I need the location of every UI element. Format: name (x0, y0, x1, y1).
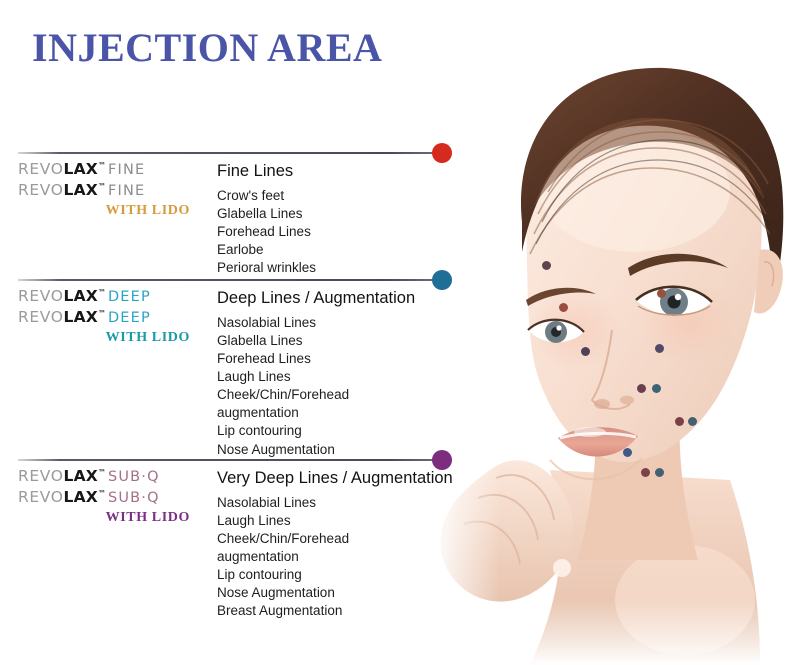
legend-dot-subq (432, 450, 452, 470)
indication-item: Cheek/Chin/Forehead (217, 386, 452, 404)
with-lido-label: WITH LIDO (18, 203, 190, 219)
injection-point-marker (542, 261, 551, 270)
trademark-symbol: ™ (98, 468, 106, 477)
legend-dot-deep (432, 270, 452, 290)
product-logo-deep: REVOLAX™DEEP REVOLAX™DEEP WITH LIDO (18, 289, 198, 346)
logo-lax-text: LAX (64, 467, 98, 485)
indication-item: augmentation (217, 404, 452, 422)
logo-grade-text: SUB·Q (108, 490, 160, 506)
indication-item: Forehead Lines (217, 350, 452, 368)
logo-revolax-subq-lido: REVOLAX™SUB·Q (18, 490, 198, 506)
indication-item: augmentation (217, 548, 452, 566)
indications-deep: Deep Lines / Augmentation Nasolabial Lin… (217, 289, 452, 459)
trademark-symbol: ™ (98, 309, 106, 318)
indications-subq: Very Deep Lines / Augmentation Nasolabia… (217, 469, 452, 621)
logo-revo-text: REVO (18, 160, 64, 178)
indication-item: Glabella Lines (217, 332, 452, 350)
legend-dot-fine (432, 143, 452, 163)
product-logo-fine: REVOLAX™FINE REVOLAX™FINE WITH LIDO (18, 162, 198, 219)
indication-item: Perioral wrinkles (217, 259, 452, 277)
injection-point-marker (581, 347, 590, 356)
logo-revo-text: REVO (18, 308, 64, 326)
indication-item: Earlobe (217, 241, 452, 259)
injection-point-marker (655, 344, 664, 353)
trademark-symbol: ™ (98, 161, 106, 170)
injection-area-infographic: INJECTION AREA REVOLAX™FINE REVOLAX™FINE… (0, 0, 800, 665)
section-divider (18, 152, 438, 154)
indication-item: Nasolabial Lines (217, 314, 452, 332)
logo-revolax-subq: REVOLAX™SUB·Q (18, 469, 198, 485)
injection-point-marker (623, 448, 632, 457)
injection-point-marker (652, 384, 661, 393)
logo-grade-text: DEEP (108, 289, 151, 305)
indication-title: Deep Lines / Augmentation (217, 289, 452, 308)
trademark-symbol: ™ (98, 182, 106, 191)
injection-point-marker (688, 417, 697, 426)
page-title: INJECTION AREA (32, 24, 382, 71)
indication-item: Nose Augmentation (217, 441, 452, 459)
logo-lax-text: LAX (64, 488, 98, 506)
indications-fine: Fine Lines Crow's feet Glabella Lines Fo… (217, 162, 452, 277)
indication-item: Lip contouring (217, 422, 452, 440)
injection-point-marker (655, 468, 664, 477)
with-lido-label: WITH LIDO (18, 510, 190, 526)
logo-grade-text: FINE (108, 183, 145, 199)
logo-grade-text: DEEP (108, 310, 151, 326)
indication-item: Lip contouring (217, 566, 452, 584)
logo-revo-text: REVO (18, 467, 64, 485)
logo-revo-text: REVO (18, 488, 64, 506)
indication-item: Cheek/Chin/Forehead (217, 530, 452, 548)
injection-point-marker (559, 303, 568, 312)
section-divider (18, 279, 438, 281)
section-divider (18, 459, 438, 461)
injection-point-marker (637, 384, 646, 393)
logo-grade-text: FINE (108, 162, 145, 178)
indication-title: Fine Lines (217, 162, 452, 181)
indication-item: Nasolabial Lines (217, 494, 452, 512)
injection-point-marker (657, 289, 666, 298)
indication-item: Forehead Lines (217, 223, 452, 241)
logo-lax-text: LAX (64, 308, 98, 326)
logo-revolax-deep: REVOLAX™DEEP (18, 289, 198, 305)
logo-lax-text: LAX (64, 160, 98, 178)
indication-item: Glabella Lines (217, 205, 452, 223)
trademark-symbol: ™ (98, 489, 106, 498)
indication-item: Crow's feet (217, 187, 452, 205)
face-photo (430, 0, 800, 665)
logo-lax-text: LAX (64, 287, 98, 305)
logo-revolax-fine: REVOLAX™FINE (18, 162, 198, 178)
injection-point-marker (675, 417, 684, 426)
indication-item: Laugh Lines (217, 368, 452, 386)
logo-revo-text: REVO (18, 287, 64, 305)
indication-title: Very Deep Lines / Augmentation (217, 469, 452, 488)
product-logo-subq: REVOLAX™SUB·Q REVOLAX™SUB·Q WITH LIDO (18, 469, 198, 526)
with-lido-label: WITH LIDO (18, 330, 190, 346)
face-photo-illustration (430, 0, 800, 665)
indication-item: Laugh Lines (217, 512, 452, 530)
injection-point-marker (641, 468, 650, 477)
logo-revo-text: REVO (18, 181, 64, 199)
indication-item: Nose Augmentation (217, 584, 452, 602)
logo-grade-text: SUB·Q (108, 469, 160, 485)
logo-lax-text: LAX (64, 181, 98, 199)
logo-revolax-deep-lido: REVOLAX™DEEP (18, 310, 198, 326)
logo-revolax-fine-lido: REVOLAX™FINE (18, 183, 198, 199)
trademark-symbol: ™ (98, 288, 106, 297)
indication-item: Breast Augmentation (217, 602, 452, 620)
